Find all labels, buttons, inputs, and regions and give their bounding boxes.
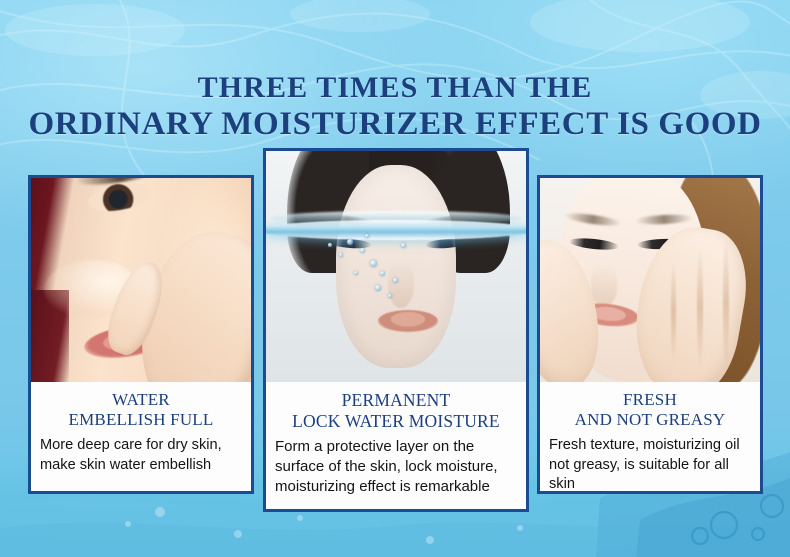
feature-title-c-line-1: FRESH <box>549 390 751 410</box>
feature-caption-a: WATER EMBELLISH FULL More deep care for … <box>31 382 251 475</box>
feature-caption-c: FRESH AND NOT GREASY Fresh texture, mois… <box>540 382 760 494</box>
feature-body-c: Fresh texture, moisturizing oil not grea… <box>549 436 751 494</box>
feature-photo-face-in-water <box>266 151 526 382</box>
feature-title-b-line-1: PERMANENT <box>275 390 517 411</box>
photo-b-bubble <box>339 253 343 257</box>
photo-b-water-surface <box>266 220 526 240</box>
feature-card-water-embellish-full[interactable]: WATER EMBELLISH FULL More deep care for … <box>28 175 254 494</box>
feature-caption-b: PERMANENT LOCK WATER MOISTURE Form a pro… <box>266 382 526 497</box>
feature-card-permanent-lock-water-moisture[interactable]: PERMANENT LOCK WATER MOISTURE Form a pro… <box>263 148 529 512</box>
feature-body-b: Form a protective layer on the surface o… <box>275 437 517 497</box>
photo-b-nose <box>388 262 414 308</box>
page-title-line-1: THREE TIMES THAN THE <box>0 73 790 103</box>
photo-b-bubble <box>370 260 377 267</box>
feature-title-a-line-2: EMBELLISH FULL <box>40 410 242 430</box>
page-title-line-2: ORDINARY MOISTURIZER EFFECT IS GOOD <box>0 108 790 141</box>
photo-b-bubble <box>347 239 353 245</box>
photo-b-bubble <box>365 234 369 238</box>
photo-b-bubble <box>360 248 365 253</box>
feature-photo-hands-on-cheeks <box>540 178 760 382</box>
photo-c-finger-crease <box>697 247 703 369</box>
feature-title-a: WATER EMBELLISH FULL <box>40 390 242 430</box>
feature-photo-cheek-touch <box>31 178 251 382</box>
feature-card-fresh-and-not-greasy[interactable]: FRESH AND NOT GREASY Fresh texture, mois… <box>537 175 763 494</box>
feature-title-a-line-1: WATER <box>40 390 242 410</box>
feature-body-a: More deep care for dry skin, make skin w… <box>40 436 242 475</box>
feature-title-c-line-2: AND NOT GREASY <box>549 410 751 430</box>
feature-title-b-line-2: LOCK WATER MOISTURE <box>275 411 517 432</box>
photo-c-nose <box>591 264 617 306</box>
feature-title-c: FRESH AND NOT GREASY <box>549 390 751 430</box>
poster-canvas: THREE TIMES THAN THE ORDINARY MOISTURIZE… <box>0 0 790 557</box>
feature-title-b: PERMANENT LOCK WATER MOISTURE <box>275 390 517 431</box>
page-title: THREE TIMES THAN THE ORDINARY MOISTURIZE… <box>0 73 790 141</box>
